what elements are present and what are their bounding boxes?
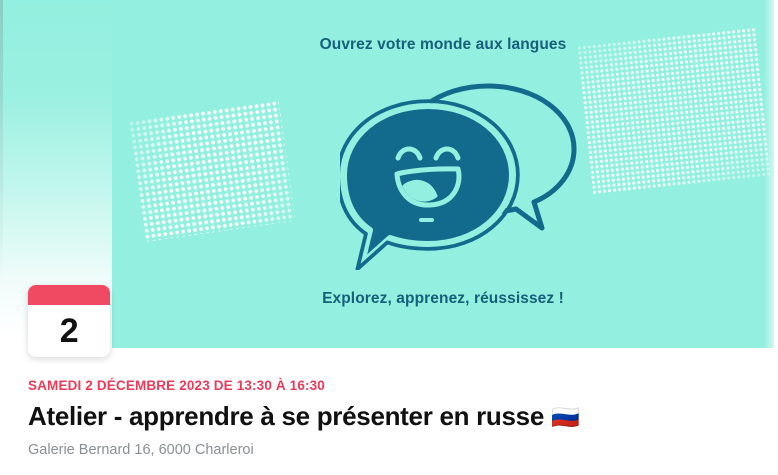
event-card[interactable]: Ouvrez votre monde aux langues xyxy=(0,0,778,475)
event-location: Galerie Bernard 16, 6000 Charleroi xyxy=(28,442,758,458)
date-badge-header-strip xyxy=(28,285,110,305)
banner-heading: Ouvrez votre monde aux langues xyxy=(112,36,774,54)
event-title[interactable]: Atelier - apprendre à se présenter en ru… xyxy=(28,401,758,432)
date-badge-day: 2 xyxy=(28,305,110,357)
date-badge: 2 xyxy=(28,285,110,357)
gutter-edge-shadow xyxy=(0,0,3,348)
event-banner: Ouvrez votre monde aux langues xyxy=(112,0,774,348)
speech-bubbles-smiley-logo xyxy=(340,78,590,270)
banner-tagline: Explorez, apprenez, réussissez ! xyxy=(112,290,774,308)
event-datetime: SAMEDI 2 DÉCEMBRE 2023 DE 13:30 À 16:30 xyxy=(28,378,758,393)
banner-right-fade xyxy=(764,0,774,348)
halftone-dots-left xyxy=(128,100,295,242)
russia-flag-icon: 🇷🇺 xyxy=(551,404,579,430)
event-info: SAMEDI 2 DÉCEMBRE 2023 DE 13:30 À 16:30 … xyxy=(28,378,758,458)
event-title-text: Atelier - apprendre à se présenter en ru… xyxy=(28,401,544,431)
